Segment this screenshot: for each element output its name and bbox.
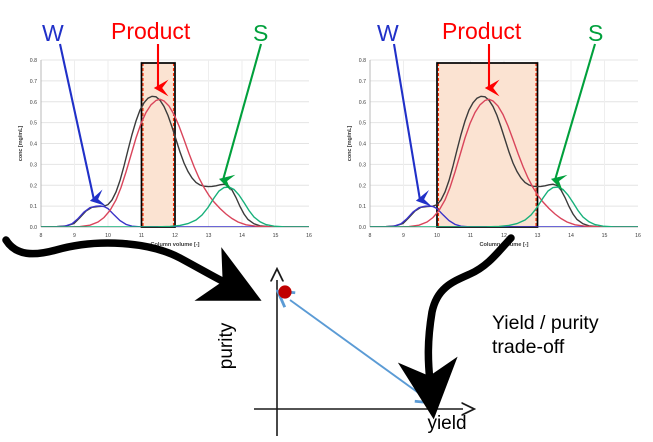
left-label-w: W bbox=[42, 22, 64, 45]
svg-text:0.6: 0.6 bbox=[30, 100, 37, 106]
right-label-product: Product bbox=[442, 20, 521, 43]
left-chromatogram-panel: 0.8 0.7 0.6 0.5 0.4 0.3 0.2 0.1 0.0 8 9 … bbox=[8, 8, 320, 248]
figure-canvas: 0.8 0.7 0.6 0.5 0.4 0.3 0.2 0.1 0.0 8 9 … bbox=[0, 0, 653, 442]
tradeoff-caption-line2: trade-off bbox=[492, 335, 599, 359]
tradeoff-caption-line1: Yield / purity bbox=[492, 311, 599, 335]
scatter-point-high-purity bbox=[278, 285, 291, 298]
right-label-s: S bbox=[588, 22, 603, 45]
y-tick-labels: 0.8 0.7 0.6 0.5 0.4 0.3 0.2 0.1 0.0 bbox=[359, 58, 366, 231]
right-label-w: W bbox=[377, 22, 399, 45]
svg-text:0.1: 0.1 bbox=[30, 204, 37, 210]
scatter-x-axis-label: yield bbox=[427, 413, 466, 434]
right-chromatogram-panel: 0.8 0.7 0.6 0.5 0.4 0.3 0.2 0.1 0.0 8 9 … bbox=[337, 8, 649, 248]
left-label-product: Product bbox=[111, 20, 190, 43]
svg-text:0.4: 0.4 bbox=[30, 142, 37, 148]
svg-text:0.7: 0.7 bbox=[30, 79, 37, 85]
svg-text:0.2: 0.2 bbox=[30, 183, 37, 189]
flow-arrow-left bbox=[6, 240, 228, 284]
svg-text:0.4: 0.4 bbox=[359, 142, 366, 148]
scatter-point-high-yield bbox=[425, 393, 438, 406]
svg-text:0.5: 0.5 bbox=[359, 121, 366, 127]
svg-text:0.2: 0.2 bbox=[359, 183, 366, 189]
svg-text:0.3: 0.3 bbox=[359, 162, 366, 168]
flow-arrow-right bbox=[428, 238, 511, 382]
svg-text:0.7: 0.7 bbox=[359, 79, 366, 85]
y-axis-title: conc [mg/mL] bbox=[347, 126, 353, 162]
y-axis-title: conc [mg/mL] bbox=[18, 126, 24, 162]
left-label-s: S bbox=[253, 22, 268, 45]
svg-text:0.1: 0.1 bbox=[359, 204, 366, 210]
tradeoff-double-arrow bbox=[290, 300, 420, 394]
svg-text:0.3: 0.3 bbox=[30, 162, 37, 168]
tradeoff-caption: Yield / purity trade-off bbox=[492, 311, 599, 360]
scatter-y-axis-label: purity bbox=[216, 322, 237, 369]
collection-window-fill bbox=[437, 63, 538, 227]
svg-text:0.8: 0.8 bbox=[359, 58, 366, 64]
svg-text:0.6: 0.6 bbox=[359, 100, 366, 106]
svg-text:0.5: 0.5 bbox=[30, 121, 37, 127]
y-tick-labels: 0.8 0.7 0.6 0.5 0.4 0.3 0.2 0.1 0.0 bbox=[30, 58, 37, 231]
svg-text:0.8: 0.8 bbox=[30, 58, 37, 64]
